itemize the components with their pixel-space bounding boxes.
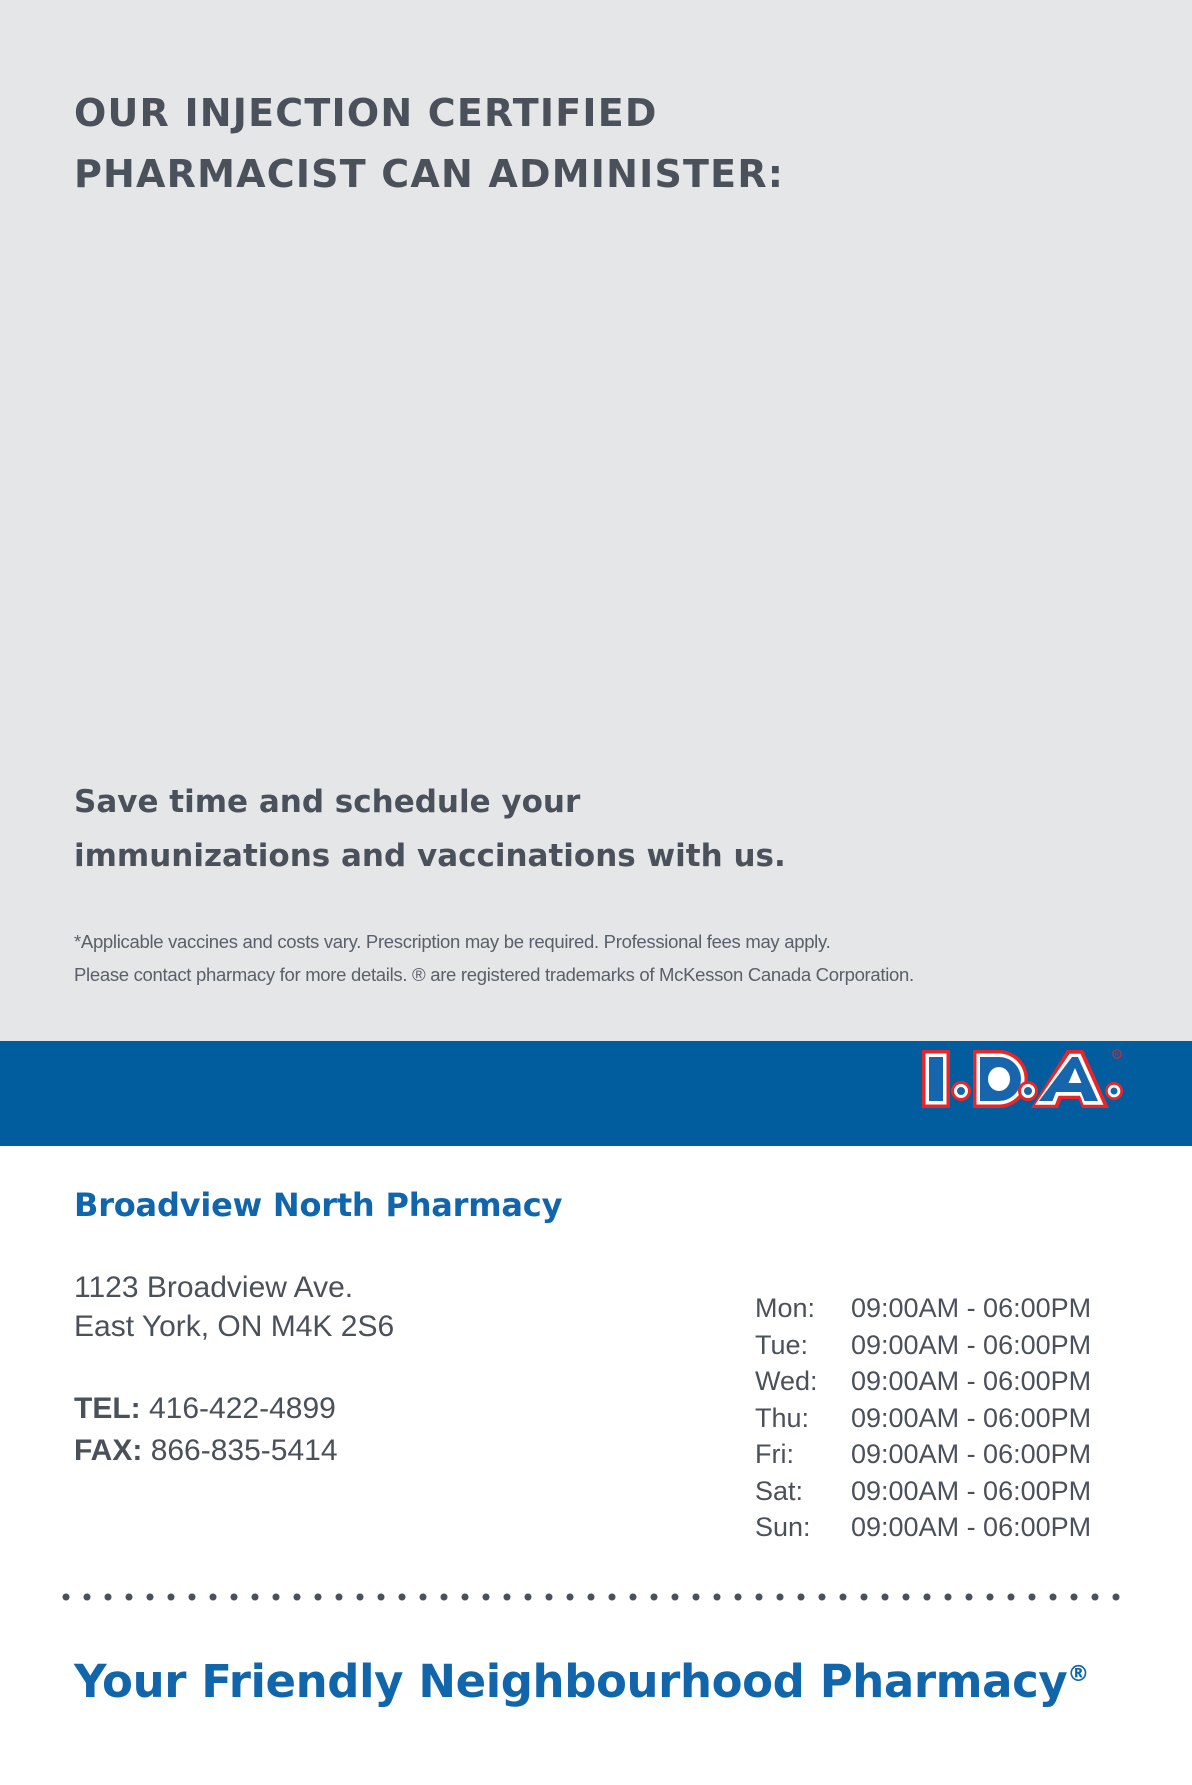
hours-row: Sat:09:00AM - 06:00PM (755, 1473, 1091, 1510)
hours-time-value: 09:00AM - 06:00PM (851, 1363, 1091, 1400)
store-hours-table: Mon:09:00AM - 06:00PMTue:09:00AM - 06:00… (755, 1290, 1091, 1546)
tagline-text: Your Friendly Neighbourhood Pharmacy (74, 1655, 1067, 1708)
address-line-1: 1123 Broadview Ave. (74, 1268, 394, 1307)
hours-day-label: Wed: (755, 1363, 851, 1400)
hours-row: Sun:09:00AM - 06:00PM (755, 1509, 1091, 1546)
store-contact: TEL: 416-422-4899 FAX: 866-835-5414 (74, 1388, 338, 1472)
hours-day-label: Mon: (755, 1290, 851, 1327)
store-hours-body: Mon:09:00AM - 06:00PMTue:09:00AM - 06:00… (755, 1290, 1091, 1546)
fax-value: 866-835-5414 (151, 1434, 338, 1467)
hours-time-value: 09:00AM - 06:00PM (851, 1290, 1091, 1327)
hours-day-label: Tue: (755, 1327, 851, 1364)
page-title: OUR INJECTION CERTIFIED PHARMACIST CAN A… (74, 83, 974, 205)
tagline: Your Friendly Neighbourhood Pharmacy® (74, 1655, 1089, 1708)
disclaimer-line-1: *Applicable vaccines and costs vary. Pre… (74, 925, 1134, 958)
registered-mark-icon: ® (1067, 1662, 1089, 1687)
fax-label: FAX: (74, 1434, 142, 1467)
disclaimer-line-2: Please contact pharmacy for more details… (74, 958, 1134, 991)
hours-day-label: Fri: (755, 1436, 851, 1473)
disclaimer: *Applicable vaccines and costs vary. Pre… (74, 925, 1134, 991)
hours-row: Tue:09:00AM - 06:00PM (755, 1327, 1091, 1364)
telephone-row: TEL: 416-422-4899 (74, 1388, 338, 1430)
hours-row: Wed:09:00AM - 06:00PM (755, 1363, 1091, 1400)
subheading-line-1: Save time and schedule your (74, 775, 914, 829)
hours-time-value: 09:00AM - 06:00PM (851, 1327, 1091, 1364)
telephone-value[interactable]: 416-422-4899 (149, 1392, 336, 1425)
dotted-divider (62, 1588, 1120, 1606)
hours-day-label: Thu: (755, 1400, 851, 1437)
hours-time-value: 09:00AM - 06:00PM (851, 1473, 1091, 1510)
store-address: 1123 Broadview Ave. East York, ON M4K 2S… (74, 1268, 394, 1346)
hours-time-value: 09:00AM - 06:00PM (851, 1400, 1091, 1437)
page-title-line-2: PHARMACIST CAN ADMINISTER: (74, 144, 974, 205)
hours-time-value: 09:00AM - 06:00PM (851, 1436, 1091, 1473)
hours-day-label: Sun: (755, 1509, 851, 1546)
hours-row: Mon:09:00AM - 06:00PM (755, 1290, 1091, 1327)
fax-row: FAX: 866-835-5414 (74, 1430, 338, 1472)
address-line-2: East York, ON M4K 2S6 (74, 1307, 394, 1346)
hours-day-label: Sat: (755, 1473, 851, 1510)
subheading-line-2: immunizations and vaccinations with us. (74, 829, 914, 883)
svg-text:R: R (1115, 1053, 1119, 1059)
page-title-line-1: OUR INJECTION CERTIFIED (74, 83, 974, 144)
hours-row: Fri:09:00AM - 06:00PM (755, 1436, 1091, 1473)
subheading: Save time and schedule your immunization… (74, 775, 914, 883)
store-name: Broadview North Pharmacy (74, 1186, 562, 1224)
telephone-label: TEL: (74, 1392, 141, 1425)
hero-panel: OUR INJECTION CERTIFIED PHARMACIST CAN A… (0, 0, 1192, 1041)
ida-logo: R (920, 1046, 1124, 1112)
hours-time-value: 09:00AM - 06:00PM (851, 1509, 1091, 1546)
hours-row: Thu:09:00AM - 06:00PM (755, 1400, 1091, 1437)
